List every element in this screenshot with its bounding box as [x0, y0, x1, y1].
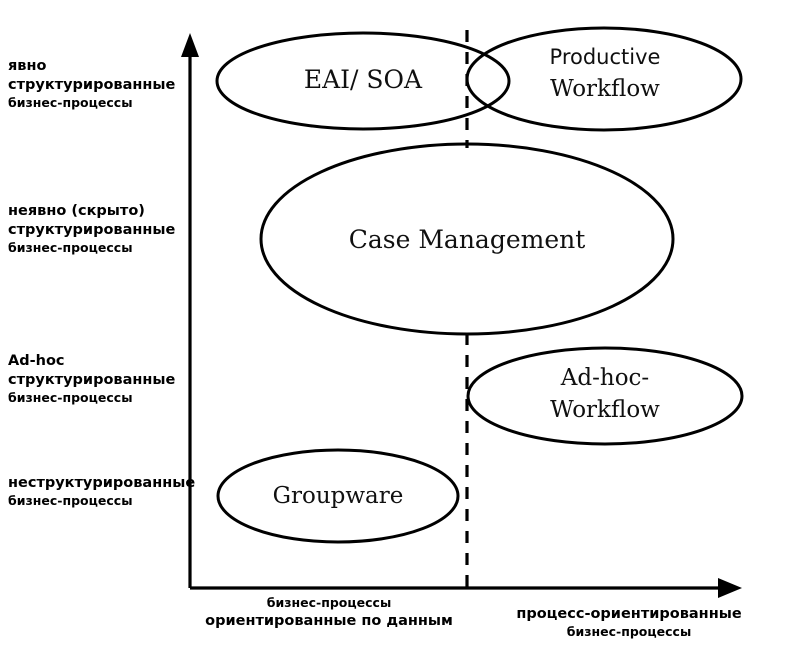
- ellipse-label-eai-soa: EAI/ SOA: [218, 64, 508, 97]
- y-axis-label-explicit-line1: явно: [8, 57, 175, 76]
- diagram-canvas: явно структурированные бизнес-процессы н…: [0, 0, 791, 671]
- ellipse-label-adhoc-workflow-line2: Workflow: [500, 396, 710, 426]
- y-axis-label-adhoc-line3: бизнес-процессы: [8, 390, 175, 407]
- ellipse-label-case-management: Case Management: [262, 224, 672, 257]
- y-axis-label-adhoc: Ad-hoc структурированные бизнес-процессы: [8, 352, 175, 407]
- y-axis-label-implicit-line1: неявно (скрыто): [8, 202, 175, 221]
- y-axis-label-unstructured-line1: неструктурированные: [8, 474, 195, 493]
- ellipse-label-productive-workflow-line1: Productive: [490, 44, 720, 71]
- x-axis-label-process-oriented: процесс-ориентированные бизнес-процессы: [478, 605, 780, 641]
- y-axis-label-implicit-line3: бизнес-процессы: [8, 240, 175, 257]
- y-axis-label-explicit-line2: структурированные: [8, 76, 175, 95]
- y-axis-label-unstructured-line2: бизнес-процессы: [8, 493, 195, 510]
- y-axis-label-implicit-line2: структурированные: [8, 221, 175, 240]
- y-axis-label-explicit: явно структурированные бизнес-процессы: [8, 57, 175, 112]
- y-axis-label-adhoc-line2: структурированные: [8, 371, 175, 390]
- ellipse-label-groupware: Groupware: [228, 482, 448, 512]
- ellipse-label-productive-workflow: Productive Workflow: [490, 44, 720, 105]
- x-axis-label-process-oriented-line2: бизнес-процессы: [478, 624, 780, 641]
- y-axis-label-explicit-line3: бизнес-процессы: [8, 95, 175, 112]
- x-axis-arrowhead: [718, 578, 742, 598]
- x-axis-label-data-oriented: бизнес-процессы ориентированные по данны…: [186, 595, 472, 631]
- x-axis-label-data-oriented-line1: бизнес-процессы: [186, 595, 472, 612]
- x-axis-label-data-oriented-line2: ориентированные по данным: [186, 612, 472, 631]
- y-axis-label-implicit: неявно (скрыто) структурированные бизнес…: [8, 202, 175, 257]
- y-axis-label-unstructured: неструктурированные бизнес-процессы: [8, 474, 195, 510]
- x-axis-label-process-oriented-line1: процесс-ориентированные: [478, 605, 780, 624]
- y-axis-arrowhead: [181, 33, 199, 57]
- y-axis-label-adhoc-line1: Ad-hoc: [8, 352, 175, 371]
- ellipse-label-adhoc-workflow-line1: Ad-hoc-: [500, 364, 710, 394]
- ellipse-label-productive-workflow-line2: Workflow: [490, 75, 720, 105]
- ellipse-label-adhoc-workflow: Ad-hoc- Workflow: [500, 364, 710, 426]
